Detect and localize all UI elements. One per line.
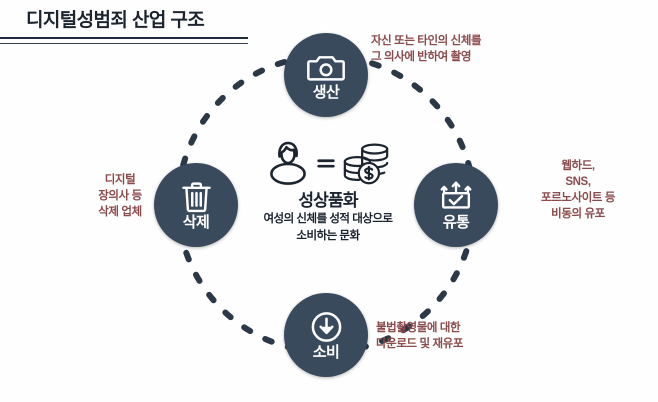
- annotation-deletion-line-1: 디지털: [76, 172, 164, 188]
- annotation-production-line-1: 자신 또는 타인의 신체를: [371, 33, 481, 49]
- page-title: 디지털성범죄 산업 구조: [0, 8, 260, 34]
- annotation-production-line-2: 그 의사에 반하여 촬영: [371, 49, 481, 65]
- center-block: 성상품화 여성의 신체를 성적 대상으로 소비하는 문화: [233, 138, 423, 245]
- annotation-deletion: 디지털 장의사 등 삭제 업체: [76, 172, 164, 220]
- title-underline-rule: [0, 37, 248, 44]
- center-subtitle-line-1: 여성의 신체를 성적 대상으로: [233, 211, 423, 228]
- annotation-distribution: 웹하드, SNS, 포르노사이트 등 비동의 유포: [512, 158, 644, 222]
- woman-figure-icon: [265, 139, 311, 187]
- money-coins-icon: [341, 140, 391, 187]
- node-distribution[interactable]: 유통: [414, 163, 498, 247]
- node-consumption-label: 소비: [313, 345, 340, 361]
- annotation-consumption-line-2: 다운로드 및 재유포: [376, 336, 463, 352]
- title-block: 디지털성범죄 산업 구조: [0, 8, 260, 44]
- annotation-consumption: 불법촬영물에 대한 다운로드 및 재유포: [376, 320, 463, 352]
- trash-can-icon: [181, 180, 212, 214]
- node-production[interactable]: 생산: [284, 33, 368, 117]
- center-icon-row: [233, 138, 423, 188]
- node-production-label: 생산: [313, 85, 340, 101]
- annotation-deletion-line-3: 삭제 업체: [76, 204, 164, 220]
- annotation-consumption-line-1: 불법촬영물에 대한: [376, 320, 463, 336]
- upload-box-check-icon: [437, 180, 475, 214]
- annotation-production: 자신 또는 타인의 신체를 그 의사에 반하여 촬영: [371, 33, 481, 65]
- annotation-distribution-line-2: SNS,: [512, 174, 644, 190]
- camera-icon: [307, 50, 345, 84]
- center-subtitle-line-2: 소비하는 문화: [233, 228, 423, 245]
- download-arrow-icon: [310, 310, 343, 344]
- annotation-distribution-line-4: 비동의 유포: [512, 206, 644, 222]
- annotation-distribution-line-1: 웹하드,: [512, 158, 644, 174]
- node-distribution-label: 유통: [443, 215, 470, 231]
- annotation-deletion-line-2: 장의사 등: [76, 188, 164, 204]
- node-deletion-label: 삭제: [183, 215, 210, 231]
- center-heading: 성상품화: [233, 190, 423, 211]
- node-consumption[interactable]: 소비: [284, 293, 368, 377]
- infographic-canvas: 디지털성범죄 산업 구조 생산: [0, 0, 658, 402]
- node-deletion[interactable]: 삭제: [154, 163, 238, 247]
- annotation-distribution-line-3: 포르노사이트 등: [512, 190, 644, 206]
- equals-sign-icon: [316, 153, 336, 173]
